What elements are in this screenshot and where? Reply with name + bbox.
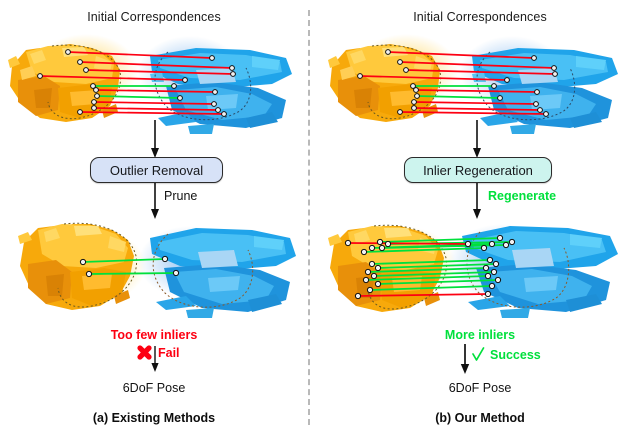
- status-more-inliers: More inliers: [322, 328, 638, 342]
- panel-caption-existing-methods: (a) Existing Methods: [0, 411, 308, 425]
- scene-final-correspondences-right: [322, 218, 638, 326]
- output-6dof-pose: 6DoF Pose: [322, 381, 638, 395]
- comparison-figure: Initial Correspondences: [0, 0, 638, 436]
- verdict-fail: Fail: [136, 344, 180, 361]
- process-box-outlier-removal[interactable]: Outlier Removal: [90, 157, 223, 183]
- panel-our-method: Initial Correspondences: [322, 0, 638, 436]
- pointcloud-pair-final-left: [0, 218, 308, 326]
- verdict-success: Success: [472, 347, 541, 362]
- edge-label-prune: Prune: [164, 189, 197, 203]
- pointcloud-pair-final-right: [322, 218, 638, 326]
- process-box-label: Outlier Removal: [110, 163, 203, 178]
- arrow-to-process-box-left: [148, 120, 162, 158]
- process-box-label: Inlier Regeneration: [423, 163, 533, 178]
- panel-divider: [308, 10, 310, 425]
- stage-title-initial-correspondences: Initial Correspondences: [322, 10, 638, 24]
- source-pointcloud-orange: [18, 223, 137, 310]
- panel-caption-our-method: (b) Our Method: [322, 411, 638, 425]
- arrow-from-process-box-right: [470, 183, 484, 219]
- process-box-inlier-regeneration[interactable]: Inlier Regeneration: [404, 157, 552, 183]
- verdict-label: Success: [490, 348, 541, 362]
- edge-label-regenerate: Regenerate: [488, 189, 556, 203]
- status-too-few-inliers: Too few inliers: [0, 328, 308, 342]
- stage-title-initial-correspondences: Initial Correspondences: [0, 10, 308, 24]
- check-mark-icon: [472, 347, 485, 362]
- cross-mark-icon: [136, 344, 153, 361]
- source-pointcloud-orange: [328, 225, 447, 312]
- arrow-to-pose-right: [458, 344, 472, 374]
- source-pointcloud-orange: [8, 44, 121, 122]
- scene-final-correspondences-left: [0, 218, 308, 326]
- verdict-label: Fail: [158, 346, 180, 360]
- arrow-to-process-box-right: [470, 120, 484, 158]
- source-pointcloud-orange: [328, 44, 441, 122]
- output-6dof-pose: 6DoF Pose: [0, 381, 308, 395]
- panel-existing-methods: Initial Correspondences: [0, 0, 308, 436]
- arrow-from-process-box-left: [148, 183, 162, 219]
